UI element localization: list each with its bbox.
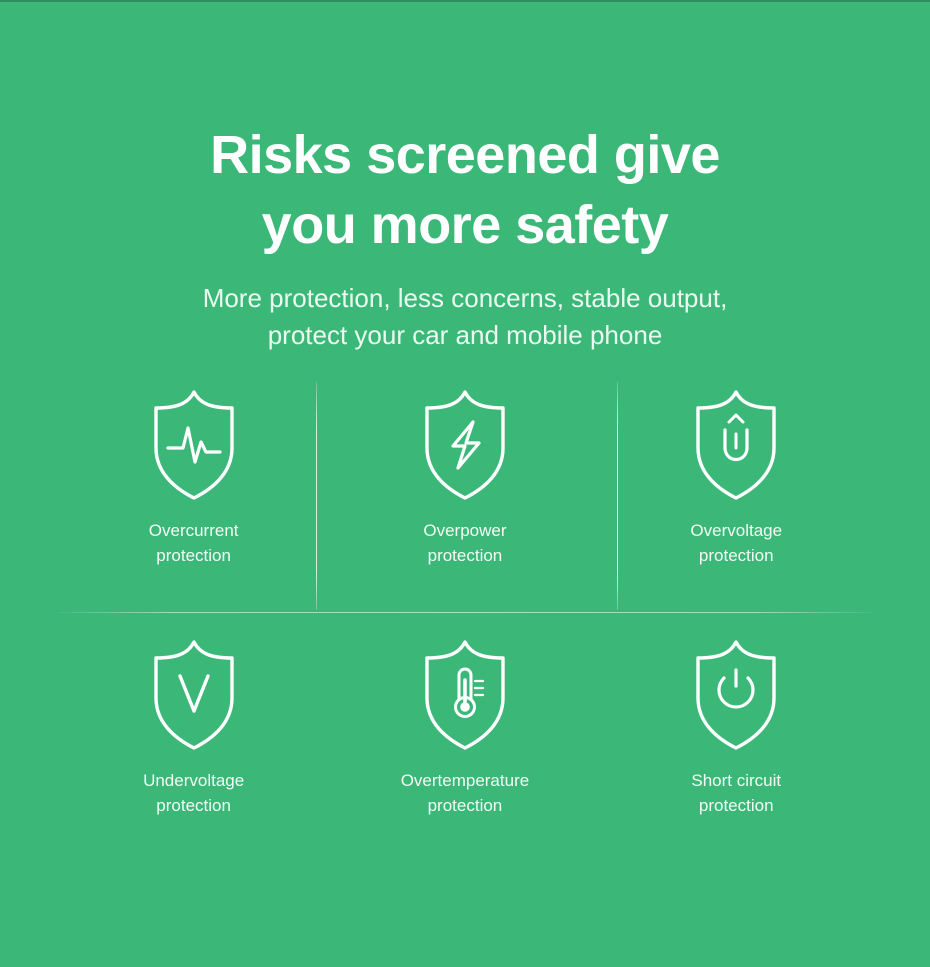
top-edge-rule xyxy=(0,0,930,2)
feature-row-bottom: Undervoltage protection xyxy=(58,632,872,862)
promo-banner: Risks screened give you more safety More… xyxy=(0,0,930,967)
feature-label: Overtemperature protection xyxy=(401,768,530,818)
shield-overvoltage-icon xyxy=(684,386,788,504)
horizontal-divider xyxy=(58,612,872,613)
feature-item-overcurrent[interactable]: Overcurrent protection xyxy=(58,382,329,612)
shield-pulse-icon xyxy=(142,386,246,504)
feature-label-line-2: protection xyxy=(423,543,506,568)
feature-label-line-2: protection xyxy=(690,543,782,568)
subtitle-line-2: protect your car and mobile phone xyxy=(0,317,930,354)
feature-item-undervoltage[interactable]: Undervoltage protection xyxy=(58,632,329,862)
feature-row-top: Overcurrent protection Overpower protect… xyxy=(58,382,872,612)
shield-thermometer-icon xyxy=(413,636,517,754)
feature-label: Undervoltage protection xyxy=(143,768,244,818)
feature-label: Short circuit protection xyxy=(691,768,781,818)
feature-item-overpower[interactable]: Overpower protection xyxy=(329,382,600,612)
feature-label-line-2: protection xyxy=(143,793,244,818)
feature-item-overtemperature[interactable]: Overtemperature protection xyxy=(329,632,600,862)
feature-label: Overvoltage protection xyxy=(690,518,782,568)
feature-item-short-circuit[interactable]: Short circuit protection xyxy=(601,632,872,862)
shield-undervoltage-icon xyxy=(142,636,246,754)
feature-label-line-2: protection xyxy=(149,543,239,568)
feature-label-line-1: Undervoltage xyxy=(143,768,244,793)
feature-item-overvoltage[interactable]: Overvoltage protection xyxy=(601,382,872,612)
shield-bolt-icon xyxy=(413,386,517,504)
feature-label: Overpower protection xyxy=(423,518,506,568)
feature-label-line-1: Overtemperature xyxy=(401,768,530,793)
feature-label-line-1: Overcurrent xyxy=(149,518,239,543)
headline-line-2: you more safety xyxy=(0,190,930,260)
vertical-divider xyxy=(617,382,618,610)
page-title: Risks screened give you more safety xyxy=(0,120,930,260)
heading-block: Risks screened give you more safety More… xyxy=(0,120,930,354)
shield-power-icon xyxy=(684,636,788,754)
feature-label-line-2: protection xyxy=(691,793,781,818)
vertical-divider xyxy=(316,382,317,610)
feature-label-line-2: protection xyxy=(401,793,530,818)
feature-label: Overcurrent protection xyxy=(149,518,239,568)
feature-label-line-1: Short circuit xyxy=(691,768,781,793)
headline-line-1: Risks screened give xyxy=(0,120,930,190)
page-subtitle: More protection, less concerns, stable o… xyxy=(0,280,930,354)
protection-feature-grid: Overcurrent protection Overpower protect… xyxy=(58,382,872,862)
subtitle-line-1: More protection, less concerns, stable o… xyxy=(0,280,930,317)
feature-label-line-1: Overpower xyxy=(423,518,506,543)
feature-label-line-1: Overvoltage xyxy=(690,518,782,543)
